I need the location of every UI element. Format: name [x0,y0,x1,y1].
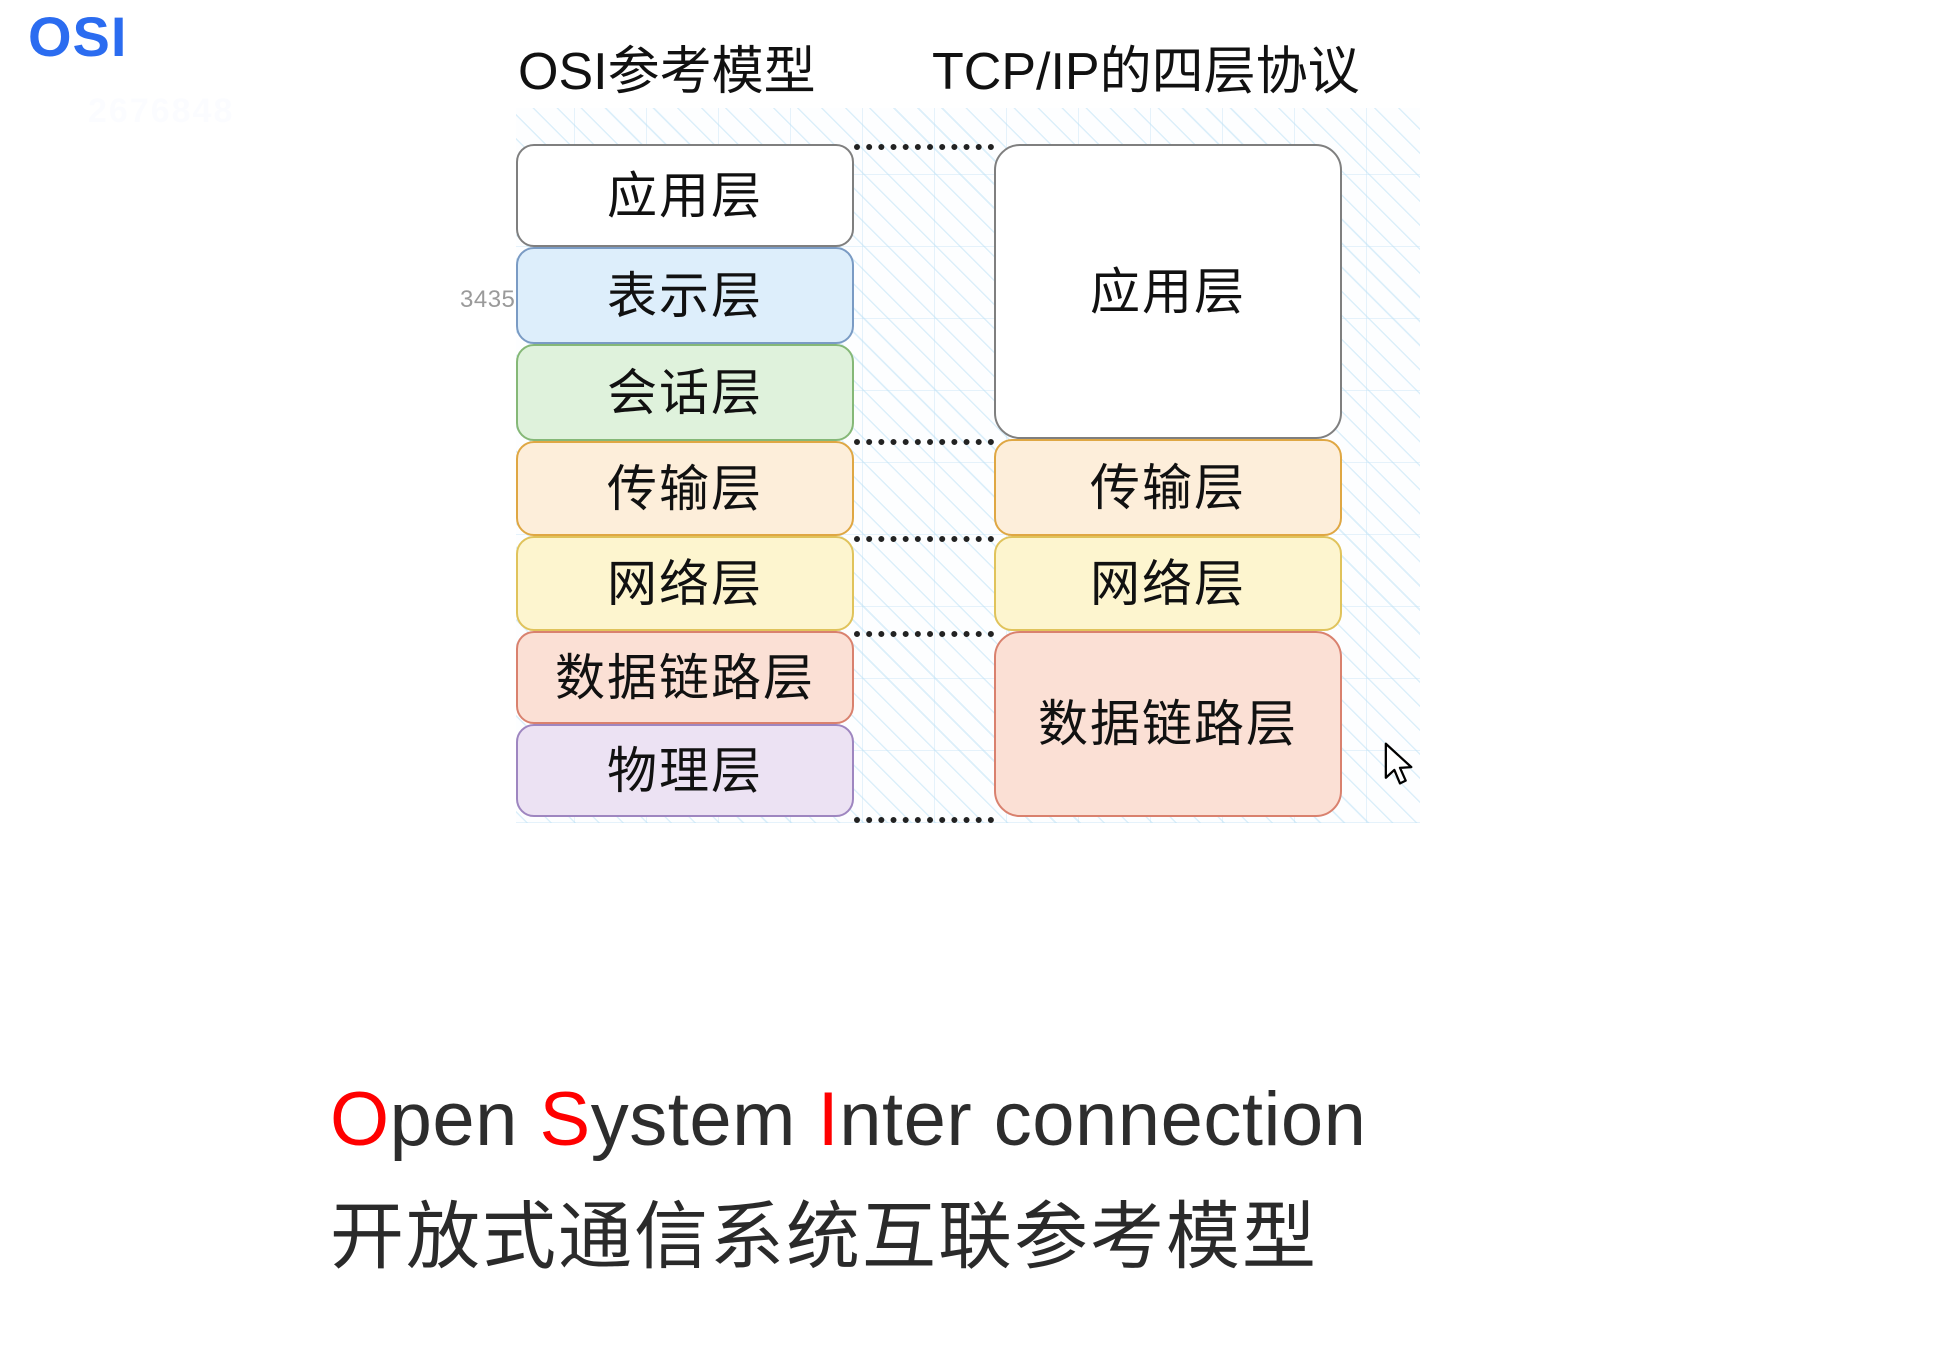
osi-layer-2[interactable]: 会话层 [516,344,854,441]
osi-layer-label: 应用层 [607,171,763,221]
osi-layer-3[interactable]: 传输层 [516,441,854,536]
osi-layer-0[interactable]: 应用层 [516,144,854,247]
osi-layer-label: 会话层 [607,368,763,418]
tcpip-layer-label: 应用层 [1090,267,1246,317]
tcpip-layer-2[interactable]: 网络层 [994,536,1342,631]
osi-tcpip-diagram: OSI参考模型 TCP/IP的四层协议 343575 应用层表示层会话层传输层网… [502,108,1420,823]
caption-english-segment-4: I [818,1077,840,1162]
osi-layer-6[interactable]: 物理层 [516,724,854,817]
caption-english-segment-5: nter connection [839,1077,1366,1162]
gutter-mask [502,108,516,823]
connector-line-1 [854,439,994,445]
page-watermark: 2676848 [88,92,234,131]
osi-layer-label: 数据链路层 [555,653,815,703]
caption-english-segment-3: ystem [591,1077,818,1162]
tcpip-layer-1[interactable]: 传输层 [994,439,1342,536]
osi-layer-label: 传输层 [607,464,763,514]
caption-english-segment-0: O [330,1077,390,1162]
osi-layer-label: 物理层 [607,746,763,796]
connector-line-4 [854,817,994,823]
tcpip-layer-label: 传输层 [1090,463,1246,513]
caption-english-segment-2: S [540,1077,591,1162]
tcpip-layer-0[interactable]: 应用层 [994,144,1342,439]
connector-line-3 [854,631,994,637]
column-header-tcpip: TCP/IP的四层协议 [932,46,1360,98]
osi-layer-1[interactable]: 表示层 [516,247,854,344]
caption-english-segment-1: pen [390,1077,540,1162]
connector-line-2 [854,536,994,542]
osi-layer-label: 网络层 [607,559,763,609]
tcpip-layer-3[interactable]: 数据链路层 [994,631,1342,817]
osi-layer-4[interactable]: 网络层 [516,536,854,631]
page-title: OSI [28,6,127,68]
column-header-osi: OSI参考模型 [518,46,816,98]
tcpip-layer-label: 数据链路层 [1038,699,1298,749]
caption-chinese: 开放式通信系统互联参考模型 [330,1200,1318,1274]
connector-line-0 [854,144,994,150]
caption-english: Open System Inter connection [330,1082,1366,1158]
osi-layer-5[interactable]: 数据链路层 [516,631,854,724]
tcpip-layer-label: 网络层 [1090,559,1246,609]
osi-layer-label: 表示层 [607,271,763,321]
